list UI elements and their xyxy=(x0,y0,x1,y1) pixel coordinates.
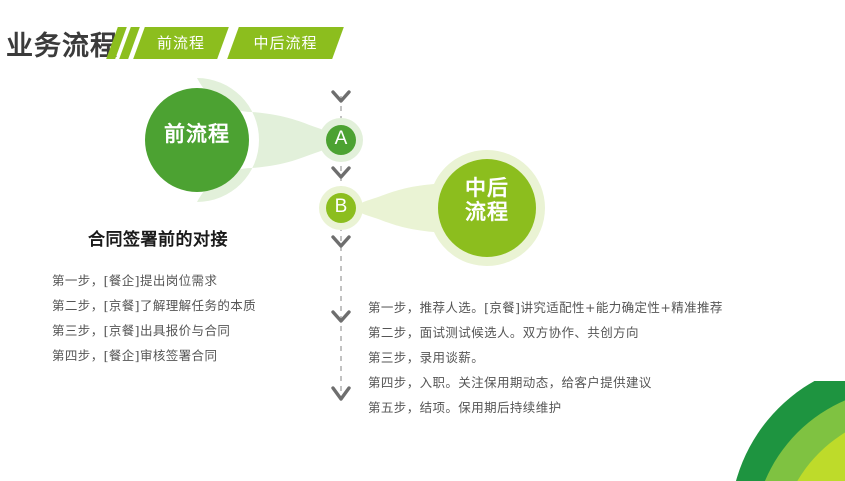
left-column-heading: 合同签署前的对接 xyxy=(88,225,228,250)
list-item: 第三步，录用谈薪。 xyxy=(368,345,723,370)
list-item: 第二步，面试测试候选人。双方协作、共创方向 xyxy=(368,320,723,345)
list-item: 第五步，结项。保用期后持续维护 xyxy=(368,395,723,420)
slide-canvas: 业务流程 前流程 中后流程 xyxy=(0,0,845,481)
list-item: 第二步，[京餐]了解理解任务的本质 xyxy=(52,293,256,318)
right-column-steps: 第一步，推荐人选。[京餐]讲究适配性+能力确定性+精准推荐 第二步，面试测试候选… xyxy=(368,295,723,420)
node-mid-back-process-label: 中后 流程 xyxy=(437,177,537,224)
list-item: 第一步，推荐人选。[京餐]讲究适配性+能力确定性+精准推荐 xyxy=(368,295,723,320)
badge-b-label: B xyxy=(321,196,361,218)
list-item: 第一步，[餐企]提出岗位需求 xyxy=(52,268,256,293)
list-item: 第三步，[京餐]出具报价与合同 xyxy=(52,318,256,343)
badge-a-label: A xyxy=(321,128,361,150)
corner-decoration xyxy=(730,360,845,481)
left-column-steps: 第一步，[餐企]提出岗位需求 第二步，[京餐]了解理解任务的本质 第三步，[京餐… xyxy=(52,268,256,368)
node-front-process-label: 前流程 xyxy=(147,123,247,147)
list-item: 第四步，入职。关注保用期动态，给客户提供建议 xyxy=(368,370,723,395)
list-item: 第四步，[餐企]审核签署合同 xyxy=(52,343,256,368)
